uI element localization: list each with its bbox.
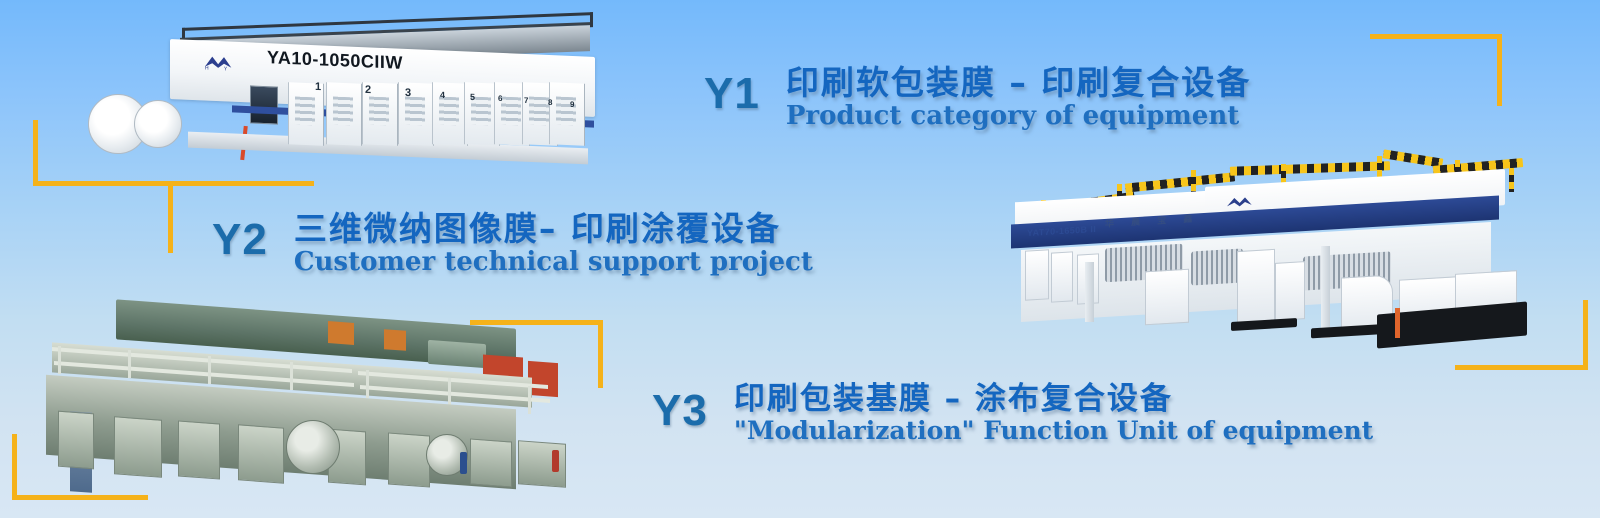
paper-line-module: [388, 432, 430, 487]
entry-row-y2: Y2 三维微纳图像膜– 印刷涂覆设备 Customer technical su…: [212, 212, 813, 276]
press-print-unit: [549, 82, 585, 146]
press-unit-number: 9: [570, 100, 574, 109]
entry-chinese-y2: 三维微纳图像膜– 印刷涂覆设备: [294, 212, 813, 247]
coater-cabinet: [1275, 261, 1305, 321]
entry-text-y1: 印刷软包装膜 – 印刷复合设备 Product category of equi…: [786, 66, 1251, 130]
entry-english-y2: Customer technical support project: [294, 249, 813, 276]
coater-hose: [1395, 308, 1400, 338]
coater-cabinet: [1145, 269, 1189, 326]
paper-line-rail-post: [128, 350, 131, 378]
paper-line-rail-post: [58, 346, 61, 374]
press-unit-number: 1: [315, 81, 321, 93]
press-unit-number: 5: [470, 92, 475, 102]
operator-figure: [460, 452, 467, 474]
paper-line-rail-post: [528, 386, 531, 414]
press-print-unit: [432, 82, 468, 146]
press-unit-number: 7: [524, 96, 528, 105]
paper-line-rail-post: [290, 362, 293, 390]
paper-line-hood: [428, 340, 486, 368]
paper-line-module: [178, 420, 220, 479]
coater-support-leg: [1085, 262, 1094, 322]
bracket-y2-vertical: [168, 181, 173, 253]
paper-line-module: [58, 411, 94, 470]
entry-text-y2: 三维微纳图像膜– 印刷涂覆设备 Customer technical suppo…: [294, 212, 813, 276]
paper-line-rail-post: [448, 378, 451, 406]
press-control-panel: [250, 85, 278, 124]
coater-cabinet: [1237, 249, 1275, 323]
press-print-unit: [398, 82, 434, 146]
paper-line-drum: [286, 420, 340, 474]
operator-figure: [552, 450, 559, 472]
entry-row-y1: Y1 印刷软包装膜 – 印刷复合设备 Product category of e…: [704, 66, 1251, 130]
bracket-left-top-vertical: [33, 120, 38, 186]
coater-roller-bank: [1191, 248, 1243, 285]
coater-cabinet: [1051, 251, 1073, 302]
entry-row-y3: Y3 印刷包装基膜 – 涂布复合设备 "Modularization" Func…: [652, 383, 1373, 444]
paper-line-module: [114, 416, 162, 478]
paper-line-module: [470, 438, 512, 487]
entry-chinese-y1: 印刷软包装膜 – 印刷复合设备: [786, 66, 1251, 101]
bracket-y2-horizontal: [168, 181, 314, 186]
machine-paper-coating-line: [28, 300, 588, 492]
press-unit-number: 8: [548, 98, 552, 107]
safety-guardrail-segment: [1230, 161, 1390, 176]
press-print-unit: [326, 82, 362, 146]
svg-text:Y: Y: [223, 66, 228, 72]
press-unwind-reel-small: [134, 100, 182, 148]
press-unit-number: 3: [405, 87, 411, 99]
paper-line-orange-module: [384, 329, 406, 351]
bracket-top-right-horizontal: [1370, 34, 1502, 39]
safety-guardrail-post: [1509, 168, 1514, 192]
entry-code-y2: Y2: [212, 218, 268, 262]
product-category-banner: H Y YA10-1050CIIW 1 2 3 4 5 6 7 8 9: [0, 0, 1600, 518]
entry-code-y1: Y1: [704, 72, 760, 116]
coater-cabinet: [1025, 249, 1049, 300]
bracket-mid-right-horizontal: [1455, 365, 1588, 370]
entry-text-y3: 印刷包装基膜 – 涂布复合设备 "Modularization" Functio…: [734, 383, 1373, 444]
bracket-mid-left-vertical: [598, 320, 603, 388]
press-unit-number: 6: [498, 94, 502, 103]
paper-line-rail-post: [208, 356, 211, 384]
bracket-bottom-left-horizontal: [12, 495, 148, 500]
bracket-mid-right-vertical: [1583, 300, 1588, 370]
paper-line-rail-post: [366, 370, 369, 398]
entry-english-y3: "Modularization" Function Unit of equipm…: [734, 418, 1373, 444]
press-unit-number: 2: [365, 84, 371, 96]
paper-line-orange-module: [328, 321, 354, 345]
press-brand-logo-icon: H Y: [202, 53, 246, 73]
machine-rotogravure-printing-press: H Y YA10-1050CIIW 1 2 3 4 5 6 7 8 9: [62, 8, 592, 180]
press-unit-number: 4: [440, 90, 445, 100]
entry-chinese-y3: 印刷包装基膜 – 涂布复合设备: [734, 383, 1373, 416]
coater-support-leg: [1321, 246, 1330, 338]
machine-coating-laminating-line: YAT70-1650B II 华 晨 宝 鑫: [985, 150, 1525, 350]
svg-text:H: H: [205, 66, 209, 72]
entry-english-y1: Product category of equipment: [786, 103, 1251, 130]
bracket-bottom-left-vertical: [12, 434, 17, 500]
bracket-top-right-vertical: [1497, 34, 1502, 106]
bracket-left-top-horizontal: [33, 181, 170, 186]
paper-line-red-module: [528, 361, 558, 397]
coater-brand-logo-icon: [1225, 193, 1265, 211]
paper-line-module: [238, 424, 284, 483]
entry-code-y3: Y3: [652, 389, 708, 433]
